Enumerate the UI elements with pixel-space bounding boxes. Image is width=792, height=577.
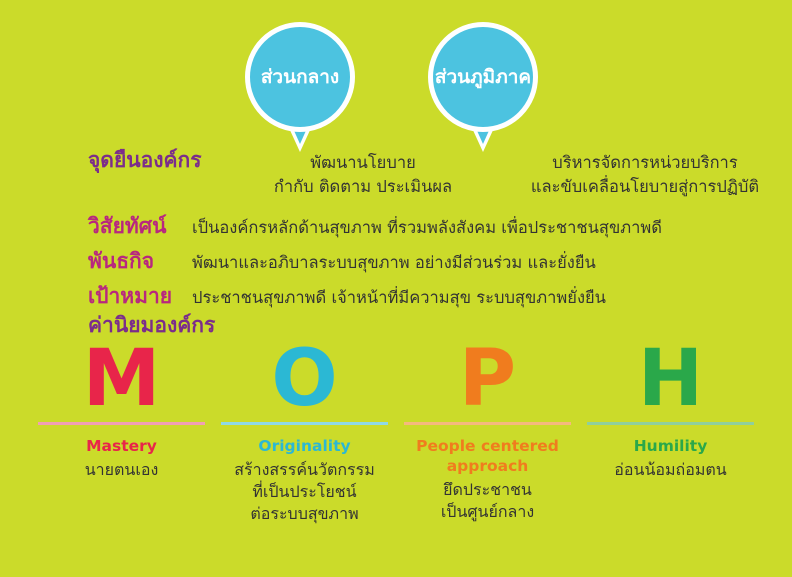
label-organization-stance: จุดยืนองค์กร (88, 148, 202, 173)
moph-letter-o: O (271, 336, 337, 422)
moph-rule-p (404, 422, 571, 425)
moph-column-humility: H Humility อ่อนน้อมถ่อมตน (579, 336, 762, 546)
moph-letter-p: P (459, 336, 516, 422)
pin-regional-caption: บริหารจัดการหน่วยบริการ และขับเคลื่อนโยบ… (515, 151, 775, 199)
moph-column-mastery: M Mastery นายตนเอง (30, 336, 213, 546)
row-mission: พันธกิจ พัฒนาและอภิบาลระบบสุขภาพ อย่างมี… (88, 249, 778, 274)
label-mission: พันธกิจ (88, 249, 180, 274)
row-vision: วิสัยทัศน์ เป็นองค์กรหลักด้านสุขภาพ ที่ร… (88, 214, 778, 239)
moph-rule-m (38, 422, 205, 425)
pin-central-caption-line1: พัฒนานโยบาย (263, 151, 463, 175)
pin-central: ส่วนกลาง (245, 22, 363, 140)
pin-regional: ส่วนภูมิภาค (428, 22, 546, 140)
moph-title-people: People centered approach (416, 437, 559, 477)
label-goal: เป้าหมาย (88, 284, 180, 309)
pin-central-label: ส่วนกลาง (261, 68, 339, 87)
moph-desc-originality: สร้างสรรค์นวัตกรรม ที่เป็นประโยชน์ ต่อระ… (234, 459, 375, 525)
moph-letter-m: M (83, 336, 161, 422)
row-organization-stance: จุดยืนองค์กร (88, 148, 202, 173)
moph-desc-humility: อ่อนน้อมถ่อมตน (614, 459, 726, 481)
text-vision: เป็นองค์กรหลักด้านสุขภาพ ที่รวมพลังสังคม… (192, 217, 662, 239)
moph-rule-h (587, 422, 754, 425)
pin-regional-label: ส่วนภูมิภาค (435, 68, 531, 87)
moph-title-humility: Humility (634, 437, 708, 457)
pin-central-circle: ส่วนกลาง (245, 22, 355, 132)
pin-regional-caption-line1: บริหารจัดการหน่วยบริการ (515, 151, 775, 175)
moph-rule-o (221, 422, 388, 425)
pin-central-caption-line2: กำกับ ติดตาม ประเมินผล (263, 175, 463, 199)
moph-column-people: P People centered approach ยึดประชาชน เป… (396, 336, 579, 546)
moph-title-mastery: Mastery (86, 437, 157, 457)
moph-desc-people: ยึดประชาชน เป็นศูนย์กลาง (441, 479, 534, 523)
infographic-root: ส่วนกลาง ส่วนภูมิภาค พัฒนานโยบาย กำกับ ต… (0, 0, 792, 577)
row-goal: เป้าหมาย ประชาชนสุขภาพดี เจ้าหน้าที่มีคว… (88, 284, 778, 309)
text-goal: ประชาชนสุขภาพดี เจ้าหน้าที่มีความสุข ระบ… (192, 287, 606, 309)
moph-title-originality: Originality (258, 437, 350, 457)
label-vision: วิสัยทัศน์ (88, 214, 180, 239)
pin-central-caption: พัฒนานโยบาย กำกับ ติดตาม ประเมินผล (263, 151, 463, 199)
moph-desc-mastery: นายตนเอง (85, 459, 159, 481)
pin-regional-circle: ส่วนภูมิภาค (428, 22, 538, 132)
text-mission: พัฒนาและอภิบาลระบบสุขภาพ อย่างมีส่วนร่วม… (192, 252, 596, 274)
moph-values-group: M Mastery นายตนเอง O Originality สร้างสร… (30, 336, 762, 546)
pin-regional-caption-line2: และขับเคลื่อนโยบายสู่การปฏิบัติ (515, 175, 775, 199)
moph-column-originality: O Originality สร้างสรรค์นวัตกรรม ที่เป็น… (213, 336, 396, 546)
moph-letter-h: H (638, 336, 703, 422)
